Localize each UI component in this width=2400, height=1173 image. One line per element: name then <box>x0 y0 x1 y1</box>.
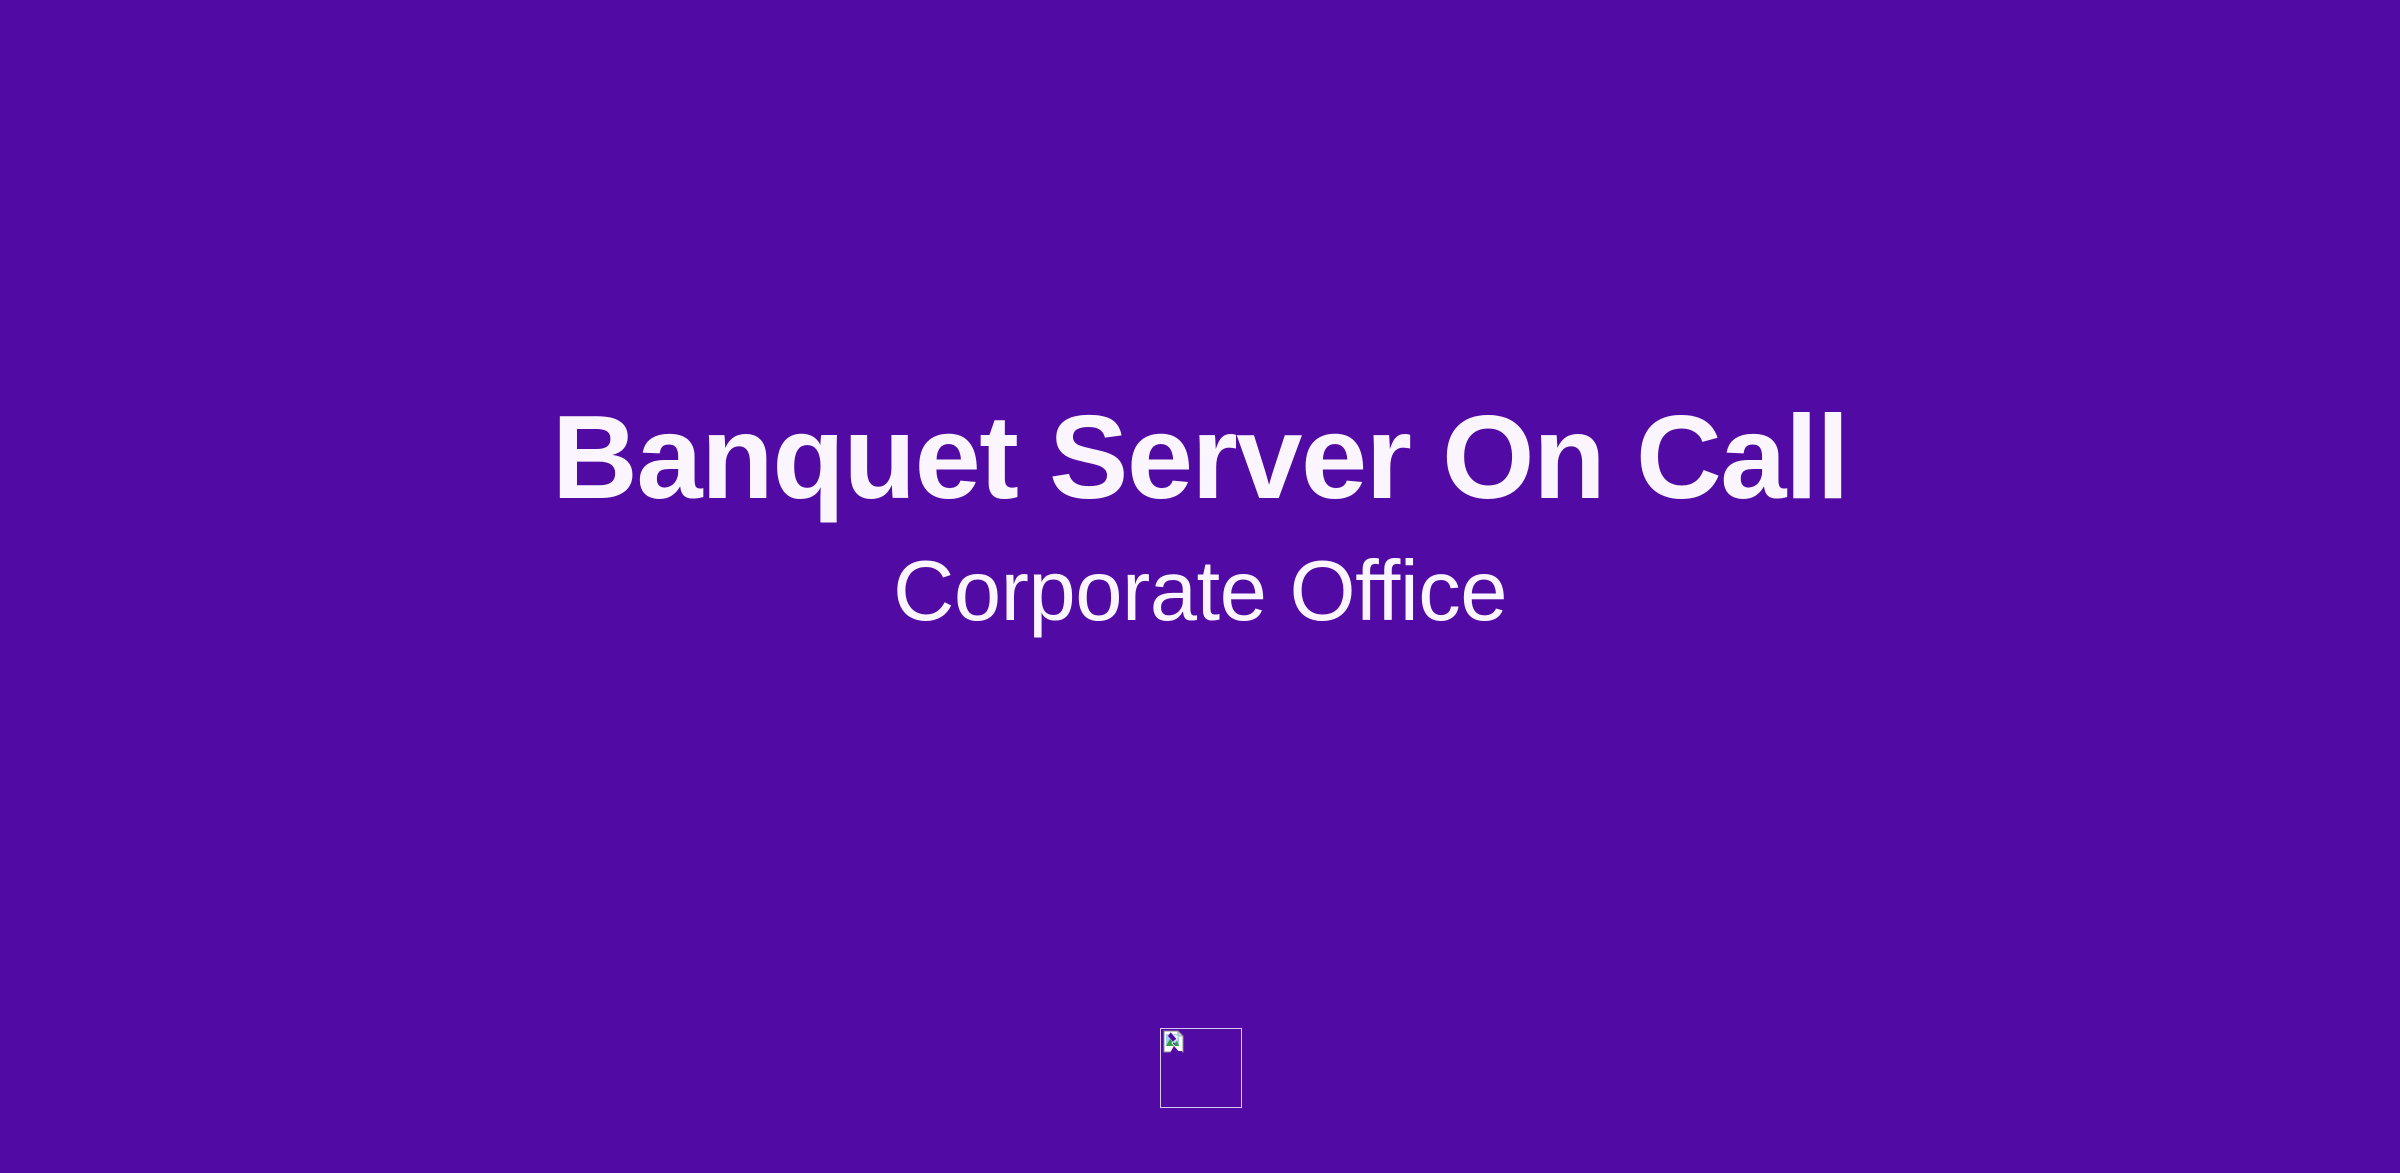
broken-image-icon <box>1162 1030 1186 1054</box>
broken-image-placeholder[interactable] <box>1160 1028 1242 1108</box>
page-subtitle: Corporate Office <box>893 549 1507 634</box>
hero-section: Banquet Server On Call Corporate Office <box>0 0 2400 1173</box>
page-title: Banquet Server On Call <box>552 398 1848 517</box>
splash-screen: Banquet Server On Call Corporate Office <box>0 0 2400 1173</box>
